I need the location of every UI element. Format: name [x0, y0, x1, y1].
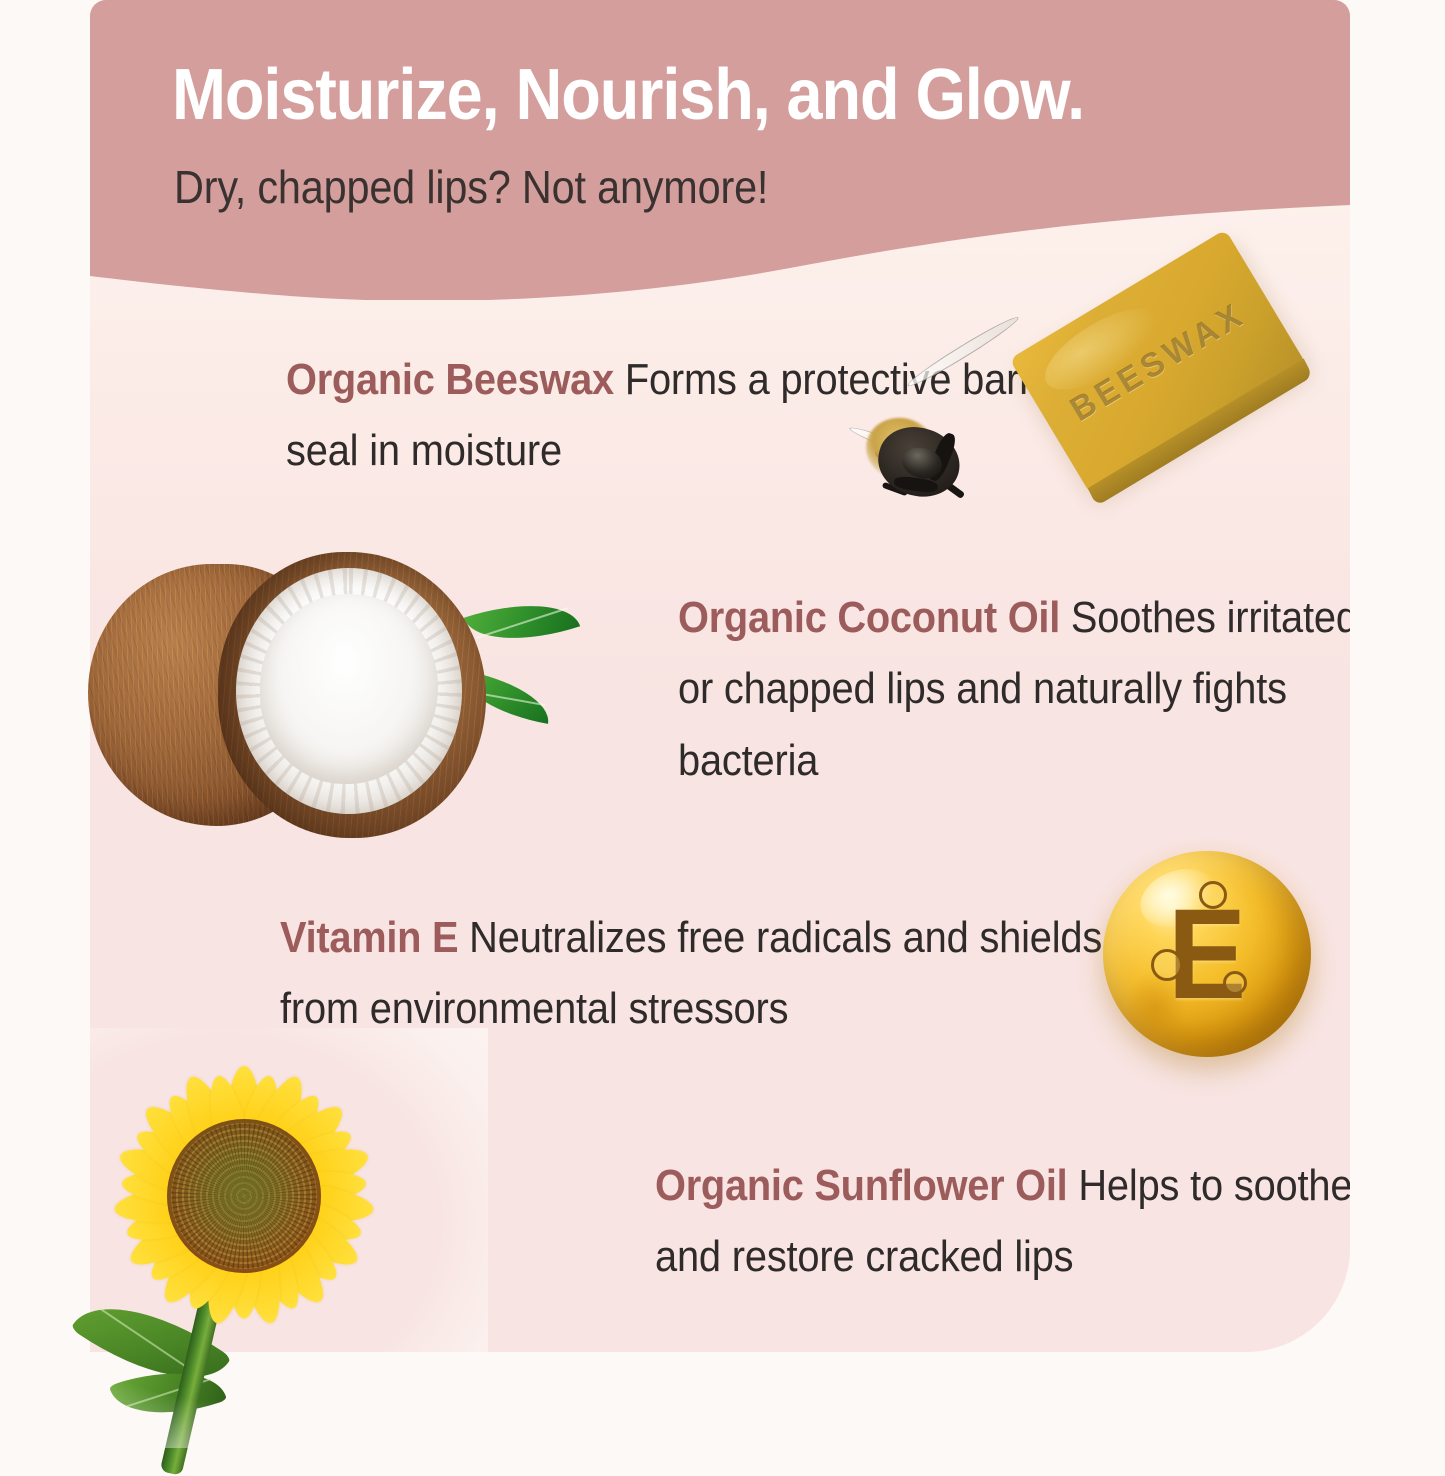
beeswax-bar-icon: BEESWAX — [1010, 245, 1310, 535]
sunflower-petal-ring — [94, 1046, 394, 1346]
ingredient-name-vitamin-e: Vitamin E — [280, 913, 458, 962]
sunflower-icon — [58, 1038, 478, 1438]
beeswax-gloss — [1033, 292, 1173, 406]
ingredient-name-coconut: Organic Coconut Oil — [678, 593, 1060, 642]
ingredient-text-coconut: Organic Coconut Oil Soothes irritated or… — [678, 582, 1350, 796]
beeswax-block: BEESWAX — [1009, 229, 1306, 494]
ingredient-text-sunflower: Organic Sunflower Oil Helps to soothe an… — [655, 1150, 1350, 1293]
page-subtitle: Dry, chapped lips? Not anymore! — [174, 160, 1164, 214]
ingredient-name-beeswax: Organic Beeswax — [286, 355, 614, 404]
capsule-bubble-one — [1199, 881, 1227, 909]
vitamin-e-capsule-icon: E — [1095, 845, 1325, 1071]
coconut-icon — [70, 542, 540, 862]
ingredient-name-sunflower: Organic Sunflower Oil — [655, 1161, 1067, 1210]
capsule-letter: E — [1104, 845, 1310, 1063]
page-title: Moisturize, Nourish, and Glow. — [172, 58, 1180, 134]
capsule-bubble-two — [1151, 949, 1183, 981]
sunflower-seed-head — [167, 1119, 321, 1273]
capsule-bubble-three — [1223, 971, 1247, 995]
coconut-flesh-cavity — [260, 594, 438, 784]
honey-bee-icon — [836, 388, 1026, 528]
infographic-canvas: Moisturize, Nourish, and Glow. Dry, chap… — [0, 0, 1445, 1445]
